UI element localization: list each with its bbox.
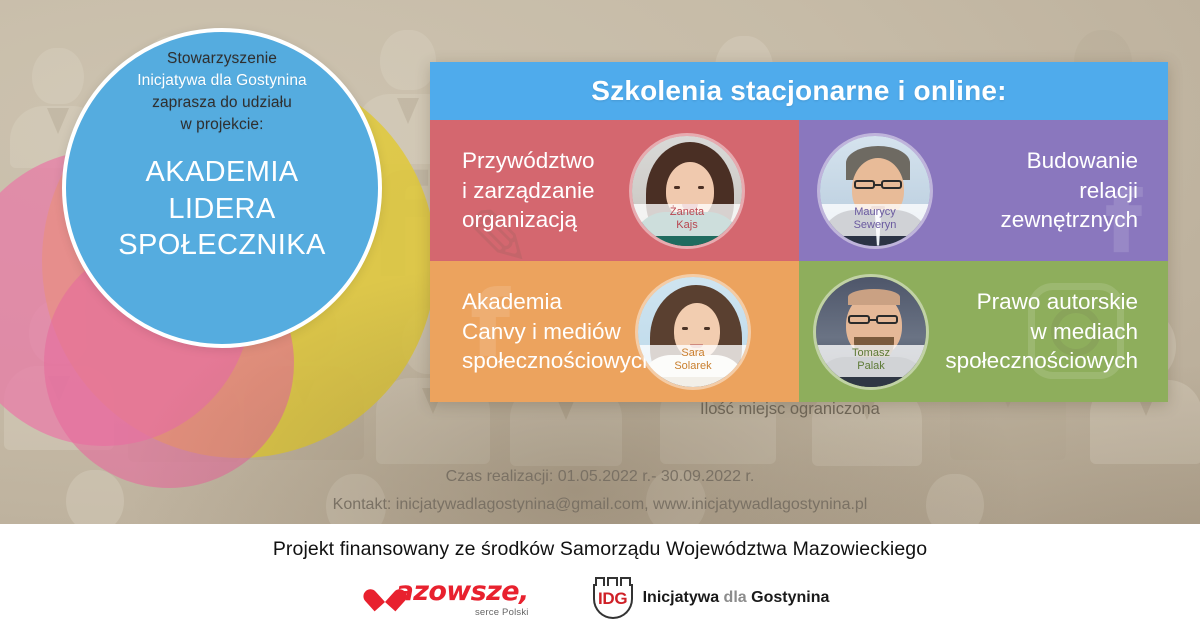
mazowsze-wordmark-row: azowsze,	[371, 578, 529, 605]
trainer-first-name: Sara	[638, 347, 748, 360]
trainer-last-name: Seweryn	[820, 219, 930, 232]
training-title-line-1: Prawo autorskie	[945, 287, 1138, 317]
poster-canvas: f f f ✎ Stowarzyszenie Inicjatywa dla Go…	[0, 0, 1200, 628]
project-period: Czas realizacji: 01.05.2022 r.- 30.09.20…	[0, 468, 1200, 486]
idg-logo: IDG Inicjatywa dla Gostynina	[593, 577, 830, 619]
trainer-name: Tomasz Palak	[816, 345, 926, 377]
training-cell-canva[interactable]: f Akademia Canvy i mediów społecznościow…	[430, 261, 799, 402]
idg-monogram: IDG	[593, 589, 633, 609]
idg-word-3: Gostynina	[751, 589, 829, 606]
trainer-name: Maurycy Seweryn	[820, 204, 930, 236]
panel-header-title: Szkolenia stacjonarne i online:	[591, 75, 1006, 107]
limited-places-note: Ilość miejsc ograniczona	[700, 400, 1000, 419]
invitation-line-3: zaprasza do udziału	[137, 92, 307, 114]
trainer-last-name: Palak	[816, 360, 926, 373]
heart-icon	[371, 579, 399, 605]
training-title-line-1: Przywództwo	[462, 146, 595, 176]
training-title-line-3: organizacją	[462, 205, 595, 235]
trainer-avatar: Sara Solarek	[635, 274, 751, 390]
mazowsze-tagline: serce Polski	[475, 607, 529, 618]
mazowsze-logo: azowsze, serce Polski	[371, 578, 529, 618]
invitation-line-1: Stowarzyszenie	[137, 48, 307, 70]
trainer-name: Sara Solarek	[638, 345, 748, 377]
project-title: AKADEMIA LIDERA SPOŁECZNIKA	[118, 154, 325, 264]
trainer-name: Żaneta Kajs	[632, 204, 742, 236]
training-title: Budowanie relacji zewnętrznych	[1000, 146, 1154, 236]
footer-bar: Projekt finansowany ze środków Samorządu…	[0, 524, 1200, 628]
training-title-line-2: w mediach	[945, 317, 1138, 347]
mazowsze-wordmark: azowsze,	[396, 578, 529, 605]
logo-row: azowsze, serce Polski IDG Inicjatywa dla…	[371, 577, 830, 619]
project-title-line-3: SPOŁECZNIKA	[118, 227, 325, 264]
trainings-grid: ✎ Przywództwo i zarządzanie organizacją	[430, 120, 1168, 402]
training-title-line-2: Canvy i mediów	[462, 317, 655, 347]
trainer-first-name: Żaneta	[632, 206, 742, 219]
trainer-first-name: Maurycy	[820, 206, 930, 219]
training-title: Akademia Canvy i mediów społecznościowyc…	[444, 287, 655, 377]
trainer-avatar: Maurycy Seweryn	[817, 133, 933, 249]
funding-note: Projekt finansowany ze środków Samorządu…	[273, 538, 927, 561]
training-title-line-2: relacji	[1000, 176, 1138, 206]
project-badge-circle: Stowarzyszenie Inicjatywa dla Gostynina …	[62, 28, 382, 348]
project-title-line-1: AKADEMIA	[118, 154, 325, 191]
idg-crest-icon: IDG	[593, 577, 633, 619]
training-title-line-1: Budowanie	[1000, 146, 1138, 176]
invitation-line-2: Inicjatywa dla Gostynina	[137, 70, 307, 92]
training-cell-copyright[interactable]: Tomasz Palak Prawo autorskie w mediach s…	[799, 261, 1168, 402]
training-title-line-3: społecznościowych	[462, 346, 655, 376]
trainer-avatar: Żaneta Kajs	[629, 133, 745, 249]
trainer-first-name: Tomasz	[816, 347, 926, 360]
trainer-avatar: Tomasz Palak	[813, 274, 929, 390]
training-title-line-1: Akademia	[462, 287, 655, 317]
training-title: Przywództwo i zarządzanie organizacją	[444, 146, 595, 236]
training-title-line-2: i zarządzanie	[462, 176, 595, 206]
invitation-text: Stowarzyszenie Inicjatywa dla Gostynina …	[137, 48, 307, 136]
idg-word-2: dla	[724, 589, 747, 606]
training-title-line-3: zewnętrznych	[1000, 205, 1138, 235]
training-title: Prawo autorskie w mediach społecznościow…	[945, 287, 1154, 377]
training-title-line-3: społecznościowych	[945, 346, 1138, 376]
idg-word-1: Inicjatywa	[643, 589, 719, 606]
trainer-last-name: Solarek	[638, 360, 748, 373]
trainings-panel: Szkolenia stacjonarne i online: ✎ Przywó…	[430, 62, 1168, 402]
idg-wordmark: Inicjatywa dla Gostynina	[643, 589, 830, 607]
training-cell-relations[interactable]: f Maurycy Seweryn	[799, 120, 1168, 261]
invitation-line-4: w projekcie:	[137, 114, 307, 136]
panel-header: Szkolenia stacjonarne i online:	[430, 62, 1168, 120]
training-cell-leadership[interactable]: ✎ Przywództwo i zarządzanie organizacją	[430, 120, 799, 261]
contact-line: Kontakt: inicjatywadlagostynina@gmail.co…	[0, 496, 1200, 514]
project-title-line-2: LIDERA	[118, 191, 325, 228]
trainer-last-name: Kajs	[632, 219, 742, 232]
